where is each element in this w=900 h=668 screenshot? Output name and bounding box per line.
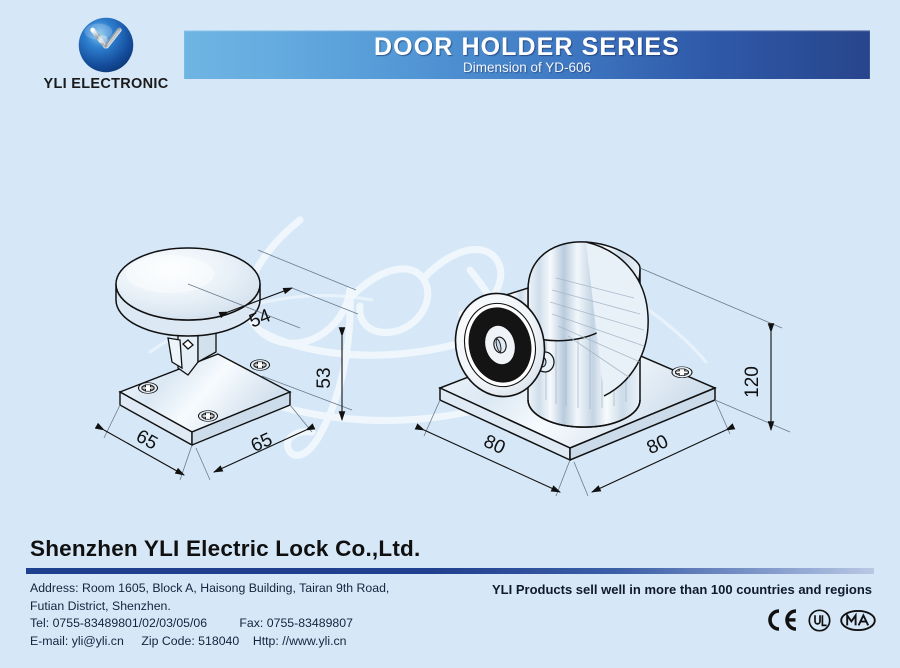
address-line-2: Futian District, Shenzhen.	[30, 599, 171, 613]
fax-value: 0755-83489807	[267, 616, 353, 630]
contact-info: Address: Room 1605, Block A, Haisong Bui…	[30, 580, 389, 650]
email-zip-http-row: E-mail: yli@yli.cn Zip Code: 518040 Http…	[30, 633, 389, 651]
door-stop-view: 54 53 65 65	[104, 248, 358, 480]
address-line-1: Room 1605, Block A, Haisong Building, Ta…	[82, 581, 389, 595]
marketing-tagline: YLI Products sell well in more than 100 …	[492, 582, 872, 597]
tel-label: Tel:	[30, 616, 49, 630]
dim-120-label: 120	[742, 366, 763, 398]
email-group[interactable]: E-mail: yli@yli.cn	[30, 633, 138, 651]
door-stop-knob	[116, 248, 260, 336]
dim-65-left-label: 65	[132, 426, 161, 455]
dim-53-label: 53	[314, 367, 335, 388]
page-subtitle: Dimension of YD-606	[184, 60, 870, 75]
address-label: Address:	[30, 581, 79, 595]
technical-drawing-area: 54 53 65 65	[0, 100, 900, 530]
page-footer: Shenzhen YLI Electric Lock Co.,Ltd. Addr…	[0, 528, 900, 668]
fax-label: Fax:	[239, 616, 263, 630]
title-banner: DOOR HOLDER SERIES Dimension of YD-606	[184, 30, 870, 79]
ul-mark-icon	[808, 609, 831, 632]
email-value[interactable]: yli@yli.cn	[72, 634, 124, 648]
dim-65-right-label: 65	[248, 429, 276, 457]
http-value[interactable]: //www.yli.cn	[282, 634, 346, 648]
page-header: YLI ELECTRONIC DOOR HOLDER SERIES Dimens…	[0, 0, 900, 108]
yli-sphere-logo-icon	[77, 16, 135, 74]
brand-name: YLI ELECTRONIC	[36, 76, 176, 92]
ce-mark-icon	[765, 608, 799, 632]
tel-value: 0755-83489801/02/03/05/06	[53, 616, 208, 630]
zip-group: Zip Code: 518040	[141, 633, 249, 651]
address-row-1: Address: Room 1605, Block A, Haisong Bui…	[30, 580, 389, 598]
company-name: Shenzhen YLI Electric Lock Co.,Ltd.	[30, 536, 420, 562]
email-label: E-mail:	[30, 634, 68, 648]
http-label: Http:	[253, 634, 279, 648]
ma-mark-icon	[840, 609, 876, 632]
tel-group: Tel: 0755-83489801/02/03/05/06	[30, 615, 236, 633]
footer-divider	[26, 568, 874, 574]
dim-80-right-label: 80	[644, 431, 672, 459]
dim-80-left-label: 80	[480, 431, 508, 459]
zip-value: 518040	[198, 634, 239, 648]
certification-marks	[765, 608, 876, 632]
tel-fax-row: Tel: 0755-83489801/02/03/05/06 Fax: 0755…	[30, 615, 389, 633]
http-group[interactable]: Http: //www.yli.cn	[253, 633, 347, 651]
zip-label: Zip Code:	[141, 634, 194, 648]
fax-group: Fax: 0755-83489807	[239, 615, 353, 633]
page-title: DOOR HOLDER SERIES	[184, 33, 870, 62]
dimension-drawings-svg: 54 53 65 65	[0, 100, 900, 530]
address-row-2: Futian District, Shenzhen.	[30, 598, 389, 616]
brand-logo-block: YLI ELECTRONIC	[36, 16, 176, 92]
